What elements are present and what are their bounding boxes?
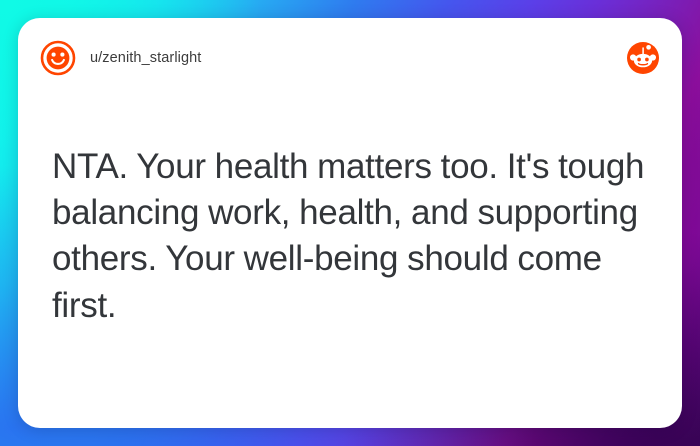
gradient-backdrop: u/zenith_starlight: [0, 0, 700, 446]
post-header: u/zenith_starlight: [18, 18, 682, 80]
username-label: u/zenith_starlight: [90, 50, 201, 66]
post-text: NTA. Your health matters too. It's tough…: [52, 80, 648, 329]
reddit-post-card: u/zenith_starlight: [18, 18, 682, 428]
smiley-face-icon: [40, 40, 76, 76]
post-body: NTA. Your health matters too. It's tough…: [18, 80, 682, 428]
reddit-snoo-icon: [626, 41, 660, 75]
